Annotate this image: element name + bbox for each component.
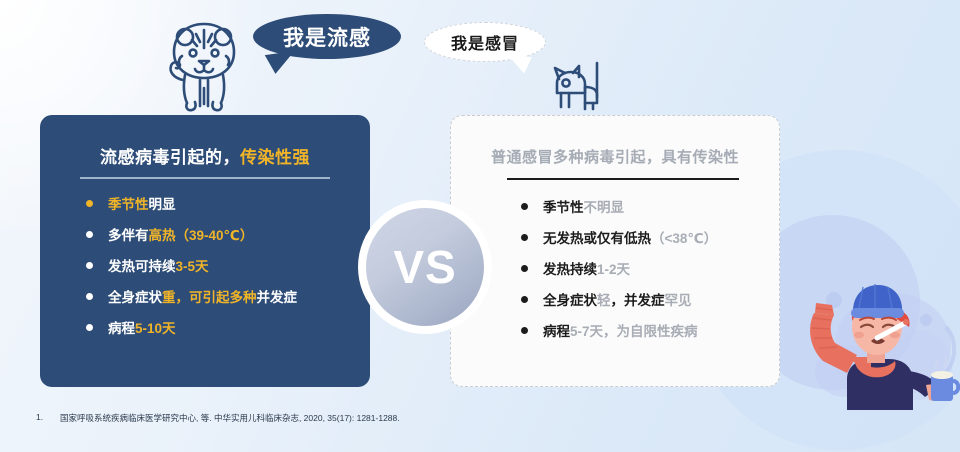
speech-bubble-flu-tail: [265, 51, 297, 75]
list-item-segment: 发热持续: [543, 262, 597, 277]
list-item-label: 季节性不明显: [543, 196, 624, 216]
vs-badge: VS: [358, 200, 492, 334]
speech-bubble-flu: 我是流感: [253, 14, 401, 59]
list-item-segment: 季节性: [543, 200, 584, 215]
cold-panel-divider: [507, 178, 739, 180]
cold-panel-title: 普通感冒多种病毒引起，具有传染性: [451, 146, 779, 167]
bullet-dot-icon: [86, 231, 93, 238]
list-item-segment: 病程: [108, 321, 135, 336]
list-item-segment: 5-10天: [135, 321, 176, 336]
bullet-dot-icon: [521, 296, 528, 303]
footnote-number: 1.: [36, 412, 46, 424]
list-item-segment: 1-2天: [597, 262, 630, 277]
list-item: 发热持续1-2天: [521, 258, 717, 278]
list-item-segment: 明显: [149, 197, 176, 212]
flu-panel-title: 流感病毒引起的，传染性强: [40, 143, 370, 168]
list-item-label: 季节性明显: [108, 193, 176, 213]
cat-icon: [545, 57, 615, 119]
list-item: 季节性不明显: [521, 196, 717, 216]
speech-bubble-cold: 我是感冒: [424, 22, 546, 62]
list-item: 病程5-7天，为自限性疾病: [521, 320, 717, 340]
footnote: 1. 国家呼吸系统疾病临床医学研究中心, 等. 中华实用儿科临床杂志, 2020…: [36, 412, 400, 424]
flu-bullet-list: 季节性明显多伴有高热（39-40℃）发热可持续3-5天全身症状重，可引起多种并发…: [86, 193, 297, 348]
bullet-dot-icon: [86, 293, 93, 300]
list-item-label: 发热持续1-2天: [543, 258, 630, 278]
flu-title-plain: 流感病毒引起的，: [100, 148, 240, 167]
list-item-segment: 季节性: [108, 197, 149, 212]
list-item-segment: 重，可引起多种: [162, 290, 257, 305]
list-item-label: 病程5-7天，为自限性疾病: [543, 320, 698, 340]
list-item-segment: 全身症状: [543, 293, 597, 308]
list-item: 发热可持续3-5天: [86, 255, 297, 275]
footnote-text: 国家呼吸系统疾病临床医学研究中心, 等. 中华实用儿科临床杂志, 2020, 3…: [60, 412, 400, 424]
list-item-segment: 无发热或仅有低热: [543, 231, 651, 246]
bullet-dot-icon: [86, 324, 93, 331]
bullet-dot-icon: [521, 203, 528, 210]
list-item: 无发热或仅有低热（<38℃）: [521, 227, 717, 247]
list-item-label: 无发热或仅有低热（<38℃）: [543, 227, 717, 247]
bullet-dot-icon: [521, 327, 528, 334]
list-item-segment: 3-5天: [176, 259, 209, 274]
list-item-segment: （<38℃）: [651, 231, 717, 246]
list-item-label: 多伴有高热（39-40℃）: [108, 224, 253, 244]
bullet-dot-icon: [86, 200, 93, 207]
sick-person-illustration: [785, 275, 960, 410]
list-item: 全身症状轻，并发症罕见: [521, 289, 717, 309]
list-item-segment: 罕见: [665, 293, 692, 308]
list-item-segment: 轻: [597, 293, 611, 308]
list-item: 全身症状重，可引起多种并发症: [86, 286, 297, 306]
slide-canvas: 我是流感 我是感冒 流感病毒引起的，传染性强 季节性明显多伴有高热（39-40℃…: [0, 0, 960, 452]
bullet-dot-icon: [86, 262, 93, 269]
cold-bullet-list: 季节性不明显无发热或仅有低热（<38℃）发热持续1-2天全身症状轻，并发症罕见病…: [521, 196, 717, 351]
list-item-label: 全身症状轻，并发症罕见: [543, 289, 692, 309]
tiger-icon: [152, 18, 256, 118]
cold-panel: 普通感冒多种病毒引起，具有传染性 季节性不明显无发热或仅有低热（<38℃）发热持…: [450, 115, 780, 387]
speech-bubble-cold-text: 我是感冒: [451, 30, 519, 54]
speech-bubble-cold-tail: [506, 55, 532, 74]
list-item-label: 病程5-10天: [108, 317, 176, 337]
bullet-dot-icon: [521, 234, 528, 241]
list-item-segment: 5-7天，为自限性疾病: [570, 324, 698, 339]
flu-panel-divider: [80, 177, 330, 179]
bullet-dot-icon: [521, 265, 528, 272]
list-item-segment: 不明显: [584, 200, 625, 215]
list-item-segment: ，并发症: [611, 293, 665, 308]
list-item: 病程5-10天: [86, 317, 297, 337]
list-item-segment: 多伴有: [108, 228, 149, 243]
list-item: 多伴有高热（39-40℃）: [86, 224, 297, 244]
list-item-label: 全身症状重，可引起多种并发症: [108, 286, 297, 306]
vs-label: VS: [393, 240, 456, 294]
list-item-segment: 发热可持续: [108, 259, 176, 274]
list-item-label: 发热可持续3-5天: [108, 255, 209, 275]
list-item-segment: 高热（39-40℃）: [149, 228, 254, 243]
flu-title-accent: 传染性强: [240, 148, 310, 167]
list-item-segment: 并发症: [257, 290, 298, 305]
flu-panel: 流感病毒引起的，传染性强 季节性明显多伴有高热（39-40℃）发热可持续3-5天…: [40, 115, 370, 387]
list-item-segment: 病程: [543, 324, 570, 339]
speech-bubble-flu-text: 我是流感: [283, 22, 371, 52]
vs-badge-circle: VS: [366, 208, 484, 326]
list-item-segment: 全身症状: [108, 290, 162, 305]
list-item: 季节性明显: [86, 193, 297, 213]
